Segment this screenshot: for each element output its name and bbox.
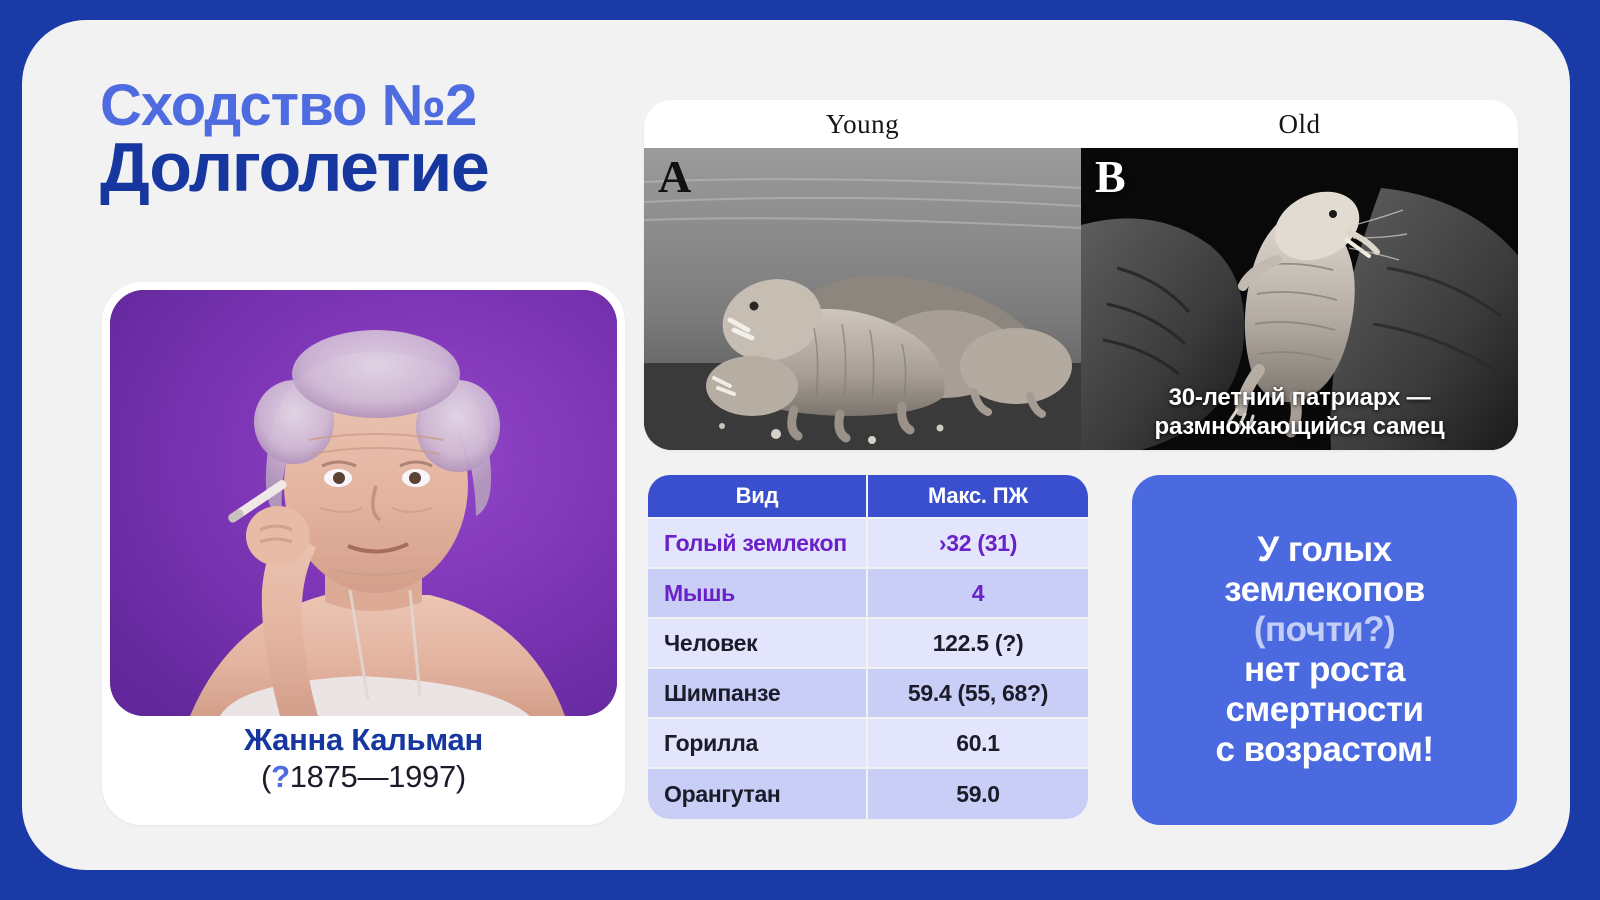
table-row: Орангутан 59.0: [648, 769, 1088, 819]
person-card: Жанна Кальман (?1875—1997): [102, 282, 625, 825]
table-cell-value: 59.4 (55, 68?): [868, 669, 1088, 717]
species-lifespan-table: Вид Макс. ПЖ Голый землекоп ›32 (31) Мыш…: [648, 475, 1088, 819]
table-row: Мышь 4: [648, 569, 1088, 619]
table-cell-value: 60.1: [868, 719, 1088, 767]
page-title: Сходство №2 Долголетие: [100, 76, 620, 203]
table-row: Голый землекоп ›32 (31): [648, 519, 1088, 569]
table-header-row: Вид Макс. ПЖ: [648, 475, 1088, 519]
molerat-panel-old: B 30-летний патриарх — размножающийся са…: [1081, 148, 1518, 450]
conclusion-line-3: (почти?): [1215, 610, 1433, 650]
table-cell-species: Голый землекоп: [648, 519, 868, 567]
conclusion-text: У голых землекопов (почти?) нет роста см…: [1215, 530, 1433, 769]
years-range: 1875—1997): [290, 759, 466, 794]
overlay-line-1: 30-летний патриарх —: [1087, 384, 1512, 413]
molerat-panel-young: A: [644, 148, 1081, 450]
years-paren-open: (: [261, 759, 271, 794]
years-question-mark: ?: [271, 759, 290, 794]
molerat-figure-card: Young Old: [644, 100, 1518, 450]
table-cell-value: ›32 (31): [868, 519, 1088, 567]
slide-root: Сходство №2 Долголетие: [0, 0, 1600, 900]
table-cell-species: Мышь: [648, 569, 868, 617]
molerat-labels: Young Old: [644, 100, 1518, 148]
conclusion-line-6: с возрастом!: [1215, 730, 1433, 770]
table-cell-species: Орангутан: [648, 769, 868, 819]
title-line-1: Сходство №2: [100, 76, 620, 136]
table-row: Шимпанзе 59.4 (55, 68?): [648, 669, 1088, 719]
table-cell-species: Человек: [648, 619, 868, 667]
table-row: Горилла 60.1: [648, 719, 1088, 769]
molerat-images: A: [644, 148, 1518, 450]
conclusion-line-4: нет роста: [1215, 650, 1433, 690]
conclusion-panel: У голых землекопов (почти?) нет роста см…: [1132, 475, 1517, 825]
label-old: Old: [1081, 100, 1518, 148]
label-young: Young: [644, 100, 1081, 148]
conclusion-line-5: смертности: [1215, 690, 1433, 730]
conclusion-line-1: У голых: [1215, 530, 1433, 570]
table-cell-species: Шимпанзе: [648, 669, 868, 717]
panel-letter-a: A: [658, 152, 691, 203]
slide-panel: Сходство №2 Долголетие: [22, 20, 1570, 870]
table-header-species: Вид: [648, 475, 868, 517]
table-cell-value: 4: [868, 569, 1088, 617]
table-cell-species: Горилла: [648, 719, 868, 767]
molerat-overlay-caption: 30-летний патриарх — размножающийся саме…: [1081, 384, 1518, 442]
person-caption: Жанна Кальман (?1875—1997): [102, 722, 625, 795]
panel-letter-b: B: [1095, 152, 1126, 203]
overlay-line-2: размножающийся самец: [1087, 413, 1512, 442]
title-line-2: Долголетие: [100, 132, 620, 203]
conclusion-line-2: землекопов: [1215, 570, 1433, 610]
jeanne-calment-photo: [110, 290, 617, 716]
table-row: Человек 122.5 (?): [648, 619, 1088, 669]
table-cell-value: 122.5 (?): [868, 619, 1088, 667]
table-cell-value: 59.0: [868, 769, 1088, 819]
table-header-maxlifespan: Макс. ПЖ: [868, 475, 1088, 517]
person-name: Жанна Кальман: [102, 722, 625, 759]
person-years: (?1875—1997): [102, 759, 625, 796]
